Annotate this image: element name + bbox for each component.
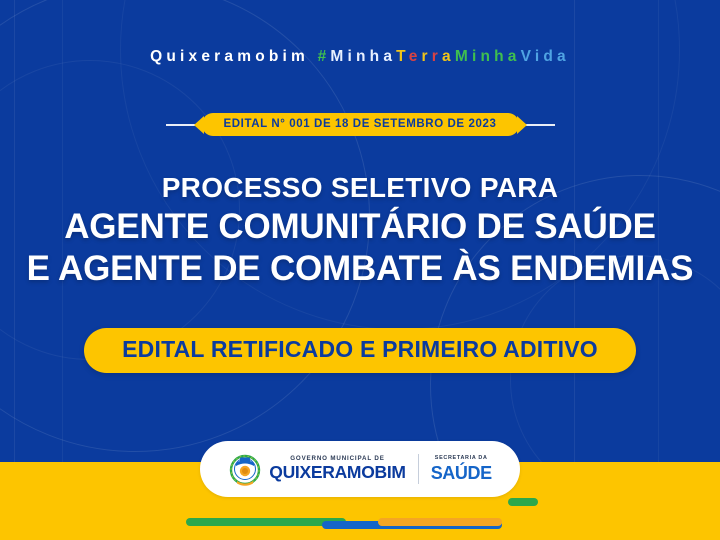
secretariat-logo-subtitle: SECRETARIA DA [431,456,492,461]
tagline-word-terra: Terra [396,48,455,65]
city-tagline: Quixeramobim #MinhaTerraMinhaVida [0,48,720,66]
retificado-banner-row: EDITAL RETIFICADO E PRIMEIRO ADITIVO [0,328,720,373]
page-title: PROCESSO SELETIVO PARA AGENTE COMUNITÁRI… [0,172,720,289]
coat-of-arms-icon [228,450,262,488]
title-line-3: E AGENTE DE COMBATE ÀS ENDEMIAS [0,248,720,289]
title-line-2: AGENTE COMUNITÁRIO DE SAÚDE [0,206,720,247]
edital-banner-row: EDITAL N° 001 DE 18 DE SETEMBRO DE 2023 [0,113,720,136]
secretariat-logo-text: SECRETARIA DA SAÚDE [431,456,492,481]
edital-banner-pill: EDITAL N° 001 DE 18 DE SETEMBRO DE 2023 [202,113,519,136]
footer-stripe-green-accent [508,498,538,506]
tagline-hash-icon: # [318,48,331,65]
retificado-banner-pill: EDITAL RETIFICADO E PRIMEIRO ADITIVO [84,328,636,373]
tagline-word-minha-2: Minha [455,48,521,65]
tagline-word-vida: Vida [521,48,570,65]
footer-logo-card: GOVERNO MUNICIPAL DE QUIXERAMOBIM SECRET… [200,441,520,497]
tagline-city: Quixeramobim [150,48,309,65]
secretariat-logo-title: SAÚDE [431,464,492,482]
footer-stripe-orange [378,518,502,526]
poster-canvas: Quixeramobim #MinhaTerraMinhaVida EDITAL… [0,0,720,540]
government-logo-title: QUIXERAMOBIM [269,464,405,482]
footer-stripe-group [0,518,720,527]
tagline-word-minha-1: Minha [330,48,396,65]
title-line-1: PROCESSO SELETIVO PARA [0,172,720,204]
government-logo-text: GOVERNO MUNICIPAL DE QUIXERAMOBIM [269,456,405,482]
logo-divider [418,454,419,484]
